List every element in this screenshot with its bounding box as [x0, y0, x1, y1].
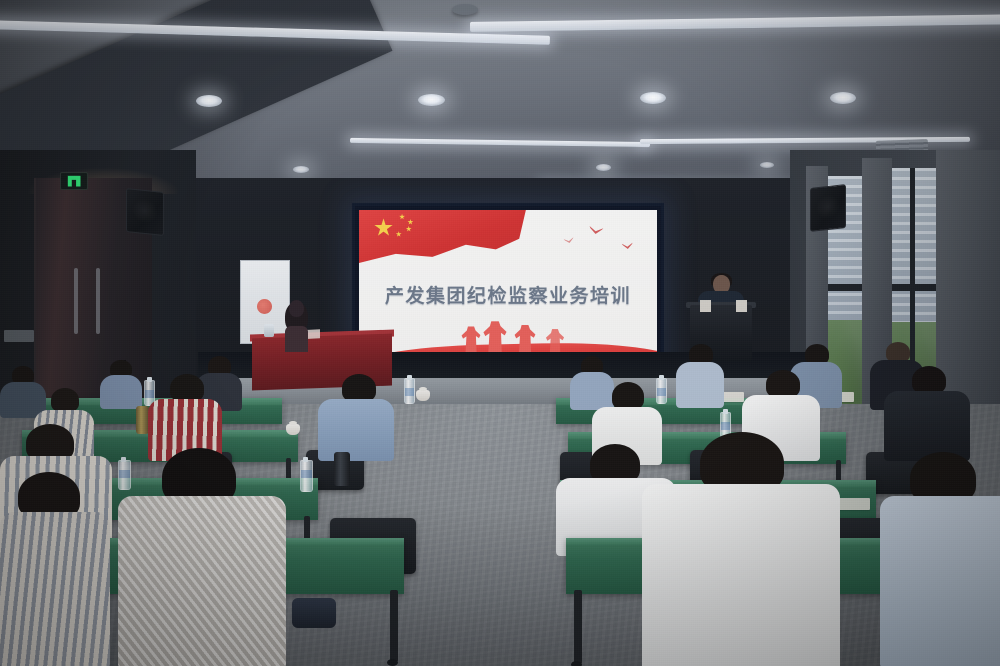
hair [342, 374, 376, 402]
flying-bird-icon [563, 237, 574, 244]
tea-cup [416, 390, 430, 401]
flying-bird-icon [622, 242, 634, 249]
water-bottle [404, 378, 415, 404]
hair [766, 370, 800, 398]
torso [118, 496, 286, 666]
water-bottle [300, 460, 313, 492]
torso [100, 375, 142, 409]
torso [676, 362, 724, 408]
running-man-glyph [68, 176, 81, 187]
handbag [292, 598, 336, 628]
head [289, 300, 304, 317]
hair [170, 374, 204, 402]
tea-cup [264, 324, 274, 337]
ceiling-downlight [293, 166, 309, 173]
chinese-national-flag [359, 210, 526, 286]
wall-switch-plate[interactable] [4, 330, 34, 342]
paper-handout [736, 300, 747, 312]
paper-handout [836, 498, 870, 510]
audience-member [676, 344, 724, 406]
conference-room-photo: 产发集团纪检监察业务培训 [0, 0, 1000, 666]
audience-member [642, 432, 840, 666]
hair [805, 344, 829, 364]
torso [285, 326, 308, 352]
desk-leg [390, 590, 398, 662]
torso [880, 496, 1000, 666]
seated-presenter [283, 300, 309, 350]
wall-speaker-left [126, 188, 164, 236]
audience-member [148, 374, 222, 458]
hair [886, 342, 910, 362]
audience-member [100, 360, 142, 408]
audience-member [884, 366, 970, 458]
wall-speaker-right [810, 184, 846, 232]
ceiling-downlight [596, 164, 611, 171]
flying-bird-icon [589, 226, 604, 235]
hair [912, 366, 946, 394]
whiteboard-logo-dot [257, 299, 272, 314]
flag-star-icon [406, 226, 412, 232]
hair [689, 344, 713, 364]
flag-star-icon [407, 219, 413, 225]
audience-member [318, 374, 394, 458]
flag-star-icon [374, 218, 393, 237]
torso [318, 399, 394, 461]
smoke-detector-icon [452, 4, 478, 15]
thermos-flask [334, 452, 350, 486]
flag-star-icon [399, 214, 405, 220]
hair [51, 388, 79, 412]
desk-leg [574, 590, 582, 664]
window-mullion [826, 284, 862, 291]
door-handle[interactable] [74, 268, 78, 334]
led-strip-light [350, 138, 650, 147]
ceiling-downlight [640, 92, 666, 104]
tea-cup [286, 424, 300, 435]
ceiling-downlight [196, 95, 222, 107]
paper-handout [700, 300, 711, 312]
torso [884, 391, 970, 461]
ceiling-downlight [830, 92, 856, 104]
slide-title: 产发集团纪检监察业务培训 [359, 281, 657, 308]
door-handle[interactable] [96, 268, 100, 334]
torso [0, 512, 110, 666]
ceiling-downlight [418, 94, 445, 106]
audience-member [0, 472, 110, 666]
torso [642, 484, 840, 666]
audience-member [118, 448, 286, 666]
flag-star-icon [396, 231, 402, 237]
ceiling-downlight [760, 162, 774, 168]
exit-sign-icon [60, 172, 88, 190]
audience-member [880, 452, 1000, 666]
